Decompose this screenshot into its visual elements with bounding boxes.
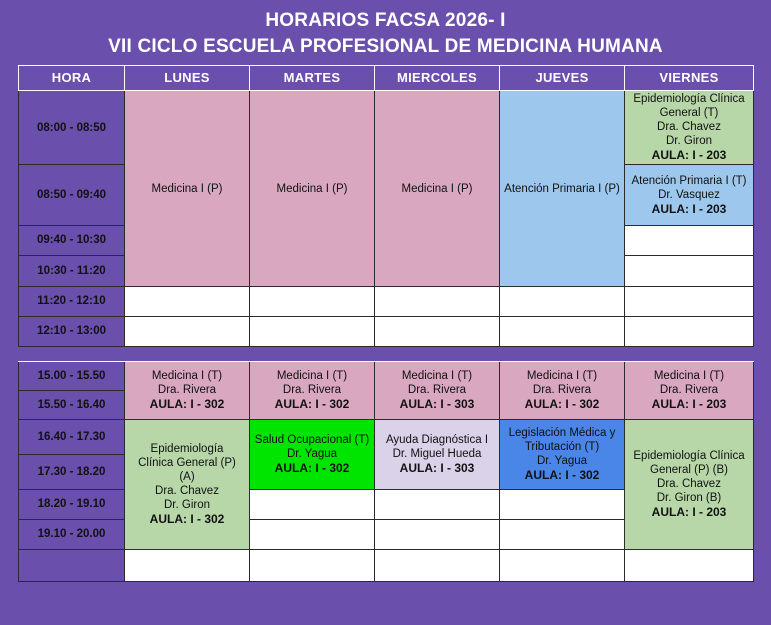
cell-martes-1820[interactable] <box>250 489 375 519</box>
time-slot-0940: 09:40 - 10:30 <box>19 225 125 255</box>
course-name: Ayuda Diagnóstica I <box>377 433 497 447</box>
teacher-name: Dra. Chavez <box>127 484 247 498</box>
teacher-name: Dra. Rivera <box>502 383 622 397</box>
classroom-label: AULA: I - 302 <box>252 397 372 412</box>
cell-lunes-tarde-medicina[interactable]: Medicina I (T) Dra. Rivera AULA: I - 302 <box>125 361 250 419</box>
course-name: Epidemiología Clínica <box>627 449 751 463</box>
teacher-name: Dra. Rivera <box>627 383 751 397</box>
cell-martes-trailing[interactable] <box>250 549 375 581</box>
schedule-table: HORA LUNES MARTES MIERCOLES JUEVES VIERN… <box>18 65 754 582</box>
classroom-label: AULA: I - 203 <box>627 148 751 163</box>
cell-martes-tarde-medicina[interactable]: Medicina I (T) Dra. Rivera AULA: I - 302 <box>250 361 375 419</box>
table-row: 08:00 - 08:50 Medicina I (P) Medicina I … <box>19 91 754 165</box>
cell-lunes-1210[interactable] <box>125 316 250 346</box>
course-name: Medicina I (P) <box>127 182 247 196</box>
course-name: Atención Primaria I (T) <box>627 174 751 188</box>
course-name: Tributación (T) <box>502 440 622 454</box>
classroom-label: AULA: I - 302 <box>127 397 247 412</box>
course-name: General (P) (B) <box>627 463 751 477</box>
cell-viernes-0850[interactable]: Atención Primaria I (T) Dr. Vasquez AULA… <box>625 164 754 225</box>
cell-martes-salud-ocupacional[interactable]: Salud Ocupacional (T) Dr. Yagua AULA: I … <box>250 419 375 489</box>
page-title: HORARIOS FACSA 2026- I <box>0 8 771 34</box>
table-row: 15.00 - 15.50 Medicina I (T) Dra. Rivera… <box>19 361 754 390</box>
time-slot-1500: 15.00 - 15.50 <box>19 361 125 390</box>
cell-viernes-0800[interactable]: Epidemiología Clínica General (T) Dra. C… <box>625 91 754 165</box>
cell-jueves-morning[interactable]: Atención Primaria I (P) <box>500 91 625 287</box>
teacher-name: Dr. Miguel Hueda <box>377 447 497 461</box>
teacher-name: Dra. Rivera <box>377 383 497 397</box>
page-subtitle: VII CICLO ESCUELA PROFESIONAL DE MEDICIN… <box>0 34 771 60</box>
cell-lunes-trailing[interactable] <box>125 549 250 581</box>
course-name: Medicina I (P) <box>252 182 372 196</box>
cell-miercoles-1820[interactable] <box>375 489 500 519</box>
teacher-name: Dr. Yagua <box>252 447 372 461</box>
classroom-label: AULA: I - 302 <box>252 461 372 476</box>
cell-jueves-trailing[interactable] <box>500 549 625 581</box>
time-slot-0850: 08:50 - 09:40 <box>19 164 125 225</box>
schedule-table-wrapper: HORA LUNES MARTES MIERCOLES JUEVES VIERN… <box>18 65 753 582</box>
schedule-page: HORARIOS FACSA 2026- I VII CICLO ESCUELA… <box>0 0 771 625</box>
column-header-viernes: VIERNES <box>625 66 754 91</box>
course-group: (A) <box>127 470 247 484</box>
time-slot-1730: 17.30 - 18.20 <box>19 454 125 489</box>
cell-martes-1210[interactable] <box>250 316 375 346</box>
classroom-label: AULA: I - 303 <box>377 461 497 476</box>
cell-viernes-tarde-medicina[interactable]: Medicina I (T) Dra. Rivera AULA: I - 203 <box>625 361 754 419</box>
teacher-name: Dra. Chavez <box>627 120 751 134</box>
course-name: Medicina I (T) <box>502 369 622 383</box>
course-name: Atención Primaria I (P) <box>502 182 622 196</box>
course-name: Epidemiología <box>127 442 247 456</box>
course-name: Epidemiología Clínica General (T) <box>627 92 751 120</box>
separator-band <box>19 346 754 361</box>
time-slot-blank <box>19 549 125 581</box>
table-row <box>19 549 754 581</box>
course-name: Medicina I (P) <box>377 182 497 196</box>
cell-jueves-1910[interactable] <box>500 519 625 549</box>
teacher-name: Dra. Chavez <box>627 477 751 491</box>
cell-jueves-1120[interactable] <box>500 286 625 316</box>
column-header-jueves: JUEVES <box>500 66 625 91</box>
cell-viernes-epidemiologia-practica[interactable]: Epidemiología Clínica General (P) (B) Dr… <box>625 419 754 549</box>
cell-jueves-tarde-medicina[interactable]: Medicina I (T) Dra. Rivera AULA: I - 302 <box>500 361 625 419</box>
cell-lunes-morning[interactable]: Medicina I (P) <box>125 91 250 287</box>
time-slot-0800: 08:00 - 08:50 <box>19 91 125 165</box>
cell-lunes-epidemiologia-practica[interactable]: Epidemiología Clínica General (P) (A) Dr… <box>125 419 250 549</box>
cell-viernes-0940[interactable] <box>625 225 754 255</box>
cell-viernes-1120[interactable] <box>625 286 754 316</box>
course-name: Medicina I (T) <box>252 369 372 383</box>
cell-miercoles-ayuda-diagnostica[interactable]: Ayuda Diagnóstica I Dr. Miguel Hueda AUL… <box>375 419 500 489</box>
section-separator <box>19 346 754 361</box>
cell-jueves-legislacion-medica[interactable]: Legislación Médica y Tributación (T) Dr.… <box>500 419 625 489</box>
cell-viernes-1030[interactable] <box>625 255 754 286</box>
time-slot-1820: 18.20 - 19.10 <box>19 489 125 519</box>
classroom-label: AULA: I - 302 <box>502 468 622 483</box>
cell-miercoles-1120[interactable] <box>375 286 500 316</box>
classroom-label: AULA: I - 203 <box>627 397 751 412</box>
cell-viernes-1210[interactable] <box>625 316 754 346</box>
cell-lunes-1120[interactable] <box>125 286 250 316</box>
time-slot-1210: 12:10 - 13:00 <box>19 316 125 346</box>
cell-miercoles-1210[interactable] <box>375 316 500 346</box>
teacher-name: Dr. Giron (B) <box>627 491 751 505</box>
table-row: 12:10 - 13:00 <box>19 316 754 346</box>
classroom-label: AULA: I - 203 <box>627 505 751 520</box>
classroom-label: AULA: I - 203 <box>627 202 751 217</box>
column-header-hora: HORA <box>19 66 125 91</box>
teacher-name: Dra. Rivera <box>127 383 247 397</box>
cell-martes-1910[interactable] <box>250 519 375 549</box>
course-name: Medicina I (T) <box>377 369 497 383</box>
course-name: Legislación Médica y <box>502 426 622 440</box>
teacher-name: Dr. Vasquez <box>627 188 751 202</box>
classroom-label: AULA: I - 303 <box>377 397 497 412</box>
teacher-name: Dr. Giron <box>627 134 751 148</box>
cell-jueves-1820[interactable] <box>500 489 625 519</box>
cell-miercoles-trailing[interactable] <box>375 549 500 581</box>
table-row: 11:20 - 12:10 <box>19 286 754 316</box>
column-header-lunes: LUNES <box>125 66 250 91</box>
cell-jueves-1210[interactable] <box>500 316 625 346</box>
time-slot-1030: 10:30 - 11:20 <box>19 255 125 286</box>
teacher-name: Dr. Yagua <box>502 454 622 468</box>
time-slot-1910: 19.10 - 20.00 <box>19 519 125 549</box>
time-slot-1640: 16.40 - 17.30 <box>19 419 125 454</box>
table-header-row: HORA LUNES MARTES MIERCOLES JUEVES VIERN… <box>19 66 754 91</box>
time-slot-1120: 11:20 - 12:10 <box>19 286 125 316</box>
title-block: HORARIOS FACSA 2026- I VII CICLO ESCUELA… <box>0 0 771 65</box>
course-name: Clínica General (P) <box>127 456 247 470</box>
table-row: 16.40 - 17.30 Epidemiología Clínica Gene… <box>19 419 754 454</box>
column-header-miercoles: MIERCOLES <box>375 66 500 91</box>
column-header-martes: MARTES <box>250 66 375 91</box>
cell-viernes-trailing[interactable] <box>625 549 754 581</box>
classroom-label: AULA: I - 302 <box>127 512 247 527</box>
cell-miercoles-1910[interactable] <box>375 519 500 549</box>
cell-martes-morning[interactable]: Medicina I (P) <box>250 91 375 287</box>
time-slot-1550: 15.50 - 16.40 <box>19 390 125 419</box>
course-name: Medicina I (T) <box>627 369 751 383</box>
course-name: Salud Ocupacional (T) <box>252 433 372 447</box>
cell-martes-1120[interactable] <box>250 286 375 316</box>
teacher-name: Dra. Rivera <box>252 383 372 397</box>
cell-miercoles-morning[interactable]: Medicina I (P) <box>375 91 500 287</box>
teacher-name: Dr. Giron <box>127 498 247 512</box>
classroom-label: AULA: I - 302 <box>502 397 622 412</box>
course-name: Medicina I (T) <box>127 369 247 383</box>
cell-miercoles-tarde-medicina[interactable]: Medicina I (T) Dra. Rivera AULA: I - 303 <box>375 361 500 419</box>
